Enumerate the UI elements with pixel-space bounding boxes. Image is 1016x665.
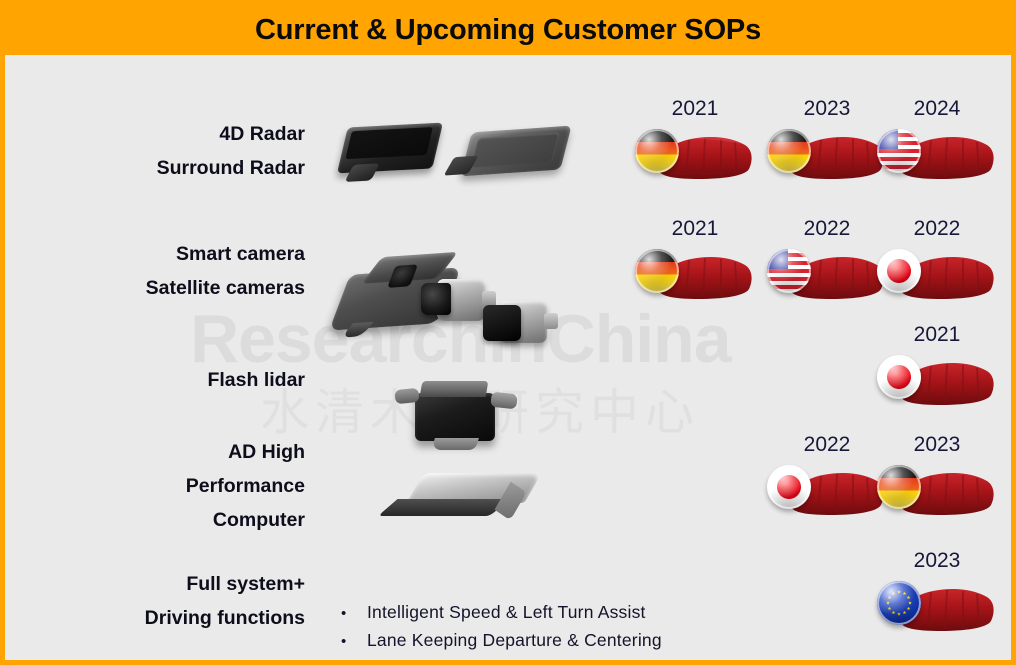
sop-art — [877, 575, 997, 637]
sop-cell-ad-computer-c2[interactable]: 2022 — [767, 433, 887, 521]
sop-year-label: 2022 — [767, 433, 887, 457]
sop-cell-full-system-c3[interactable]: 2023 — [877, 549, 997, 637]
sop-cell-ad-computer-c3[interactable]: 2023 — [877, 433, 997, 521]
sop-cell-smart-camera-c1[interactable]: 2021 — [635, 217, 755, 305]
sop-art — [635, 123, 755, 185]
sop-art — [877, 459, 997, 521]
germany-flag-icon — [635, 249, 679, 293]
japan-flag-icon — [767, 465, 811, 509]
eu-flag-icon — [877, 581, 921, 625]
sop-art — [767, 459, 887, 521]
sop-year-label: 2021 — [635, 97, 755, 121]
sop-year-label: 2024 — [877, 97, 997, 121]
sop-art — [877, 349, 997, 411]
sop-year-label: 2023 — [877, 549, 997, 573]
sop-year-label: 2021 — [877, 323, 997, 347]
sop-year-label: 2021 — [635, 217, 755, 241]
usa-flag-icon — [877, 129, 921, 173]
sop-cell-smart-camera-c3[interactable]: 2022 — [877, 217, 997, 305]
sop-cell-flash-lidar-c3[interactable]: 2021 — [877, 323, 997, 411]
flag-ring — [877, 129, 921, 173]
usa-flag-icon — [767, 249, 811, 293]
sop-year-label: 2023 — [877, 433, 997, 457]
flag-ring — [877, 355, 921, 399]
page-title: Current & Upcoming Customer SOPs — [255, 14, 761, 47]
flag-ring — [767, 465, 811, 509]
germany-flag-icon — [877, 465, 921, 509]
sop-art — [877, 243, 997, 305]
flag-ring — [767, 249, 811, 293]
slide-root: Current & Upcoming Customer SOPs Researc… — [0, 0, 1016, 665]
sop-grid: 2021 — [5, 55, 1011, 660]
japan-flag-icon — [877, 249, 921, 293]
japan-flag-icon — [877, 355, 921, 399]
sop-cell-4d-radar-c2[interactable]: 2023 — [767, 97, 887, 185]
sop-cell-4d-radar-c3[interactable]: 2024 — [877, 97, 997, 185]
flag-ring — [767, 129, 811, 173]
title-bar: Current & Upcoming Customer SOPs — [5, 5, 1011, 55]
germany-flag-icon — [635, 129, 679, 173]
flag-ring — [635, 249, 679, 293]
germany-flag-icon — [767, 129, 811, 173]
sop-art — [767, 123, 887, 185]
sop-art — [767, 243, 887, 305]
flag-ring — [635, 129, 679, 173]
flag-ring — [877, 249, 921, 293]
slide-body: ResearchInChina 水清木华研究中心 4D Radar Surrou… — [5, 55, 1011, 660]
sop-year-label: 2022 — [877, 217, 997, 241]
flag-ring — [877, 581, 921, 625]
sop-year-label: 2022 — [767, 217, 887, 241]
sop-art — [877, 123, 997, 185]
sop-cell-smart-camera-c2[interactable]: 2022 — [767, 217, 887, 305]
sop-year-label: 2023 — [767, 97, 887, 121]
sop-cell-4d-radar-c1[interactable]: 2021 — [635, 97, 755, 185]
flag-ring — [877, 465, 921, 509]
sop-art — [635, 243, 755, 305]
